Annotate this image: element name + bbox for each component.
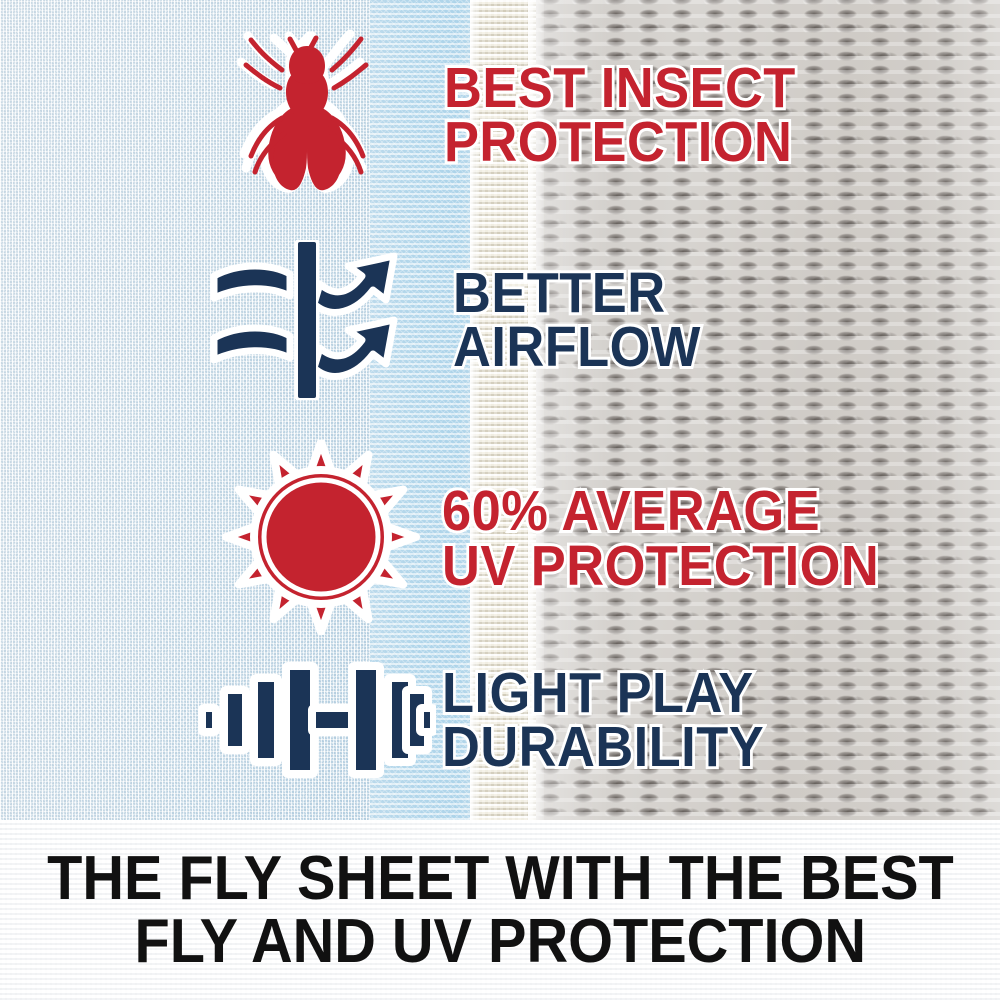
sun-icon [222, 440, 420, 635]
product-feature-infographic: BEST INSECT PROTECTION BETTER AIRFL [0, 0, 1000, 1000]
banner-headline-line-2: FLY AND UV PROTECTION [134, 910, 866, 973]
feature-label-insect-protection: BEST INSECT PROTECTION [444, 61, 796, 169]
feature-label-durability: LIGHT PLAY DURABILITY [442, 666, 764, 774]
fly-icon [232, 22, 382, 212]
airflow-icon [210, 240, 425, 400]
feature-row-better-airflow: BETTER AIRFLOW [210, 240, 990, 400]
banner-headline-line-1: THE FLY SHEET WITH THE BEST [47, 847, 954, 910]
feature-row-durability: LIGHT PLAY DURABILITY [198, 655, 988, 785]
bottom-banner: THE FLY SHEET WITH THE BEST FLY AND UV P… [0, 820, 1000, 1000]
feature-label-better-airflow: BETTER AIRFLOW [453, 266, 701, 374]
feature-label-uv-protection: 60% AVERAGE UV PROTECTION [442, 484, 879, 592]
feature-row-insect-protection: BEST INSECT PROTECTION [232, 22, 992, 212]
dumbbell-icon [198, 655, 436, 785]
feature-row-uv-protection: 60% AVERAGE UV PROTECTION [222, 440, 992, 635]
